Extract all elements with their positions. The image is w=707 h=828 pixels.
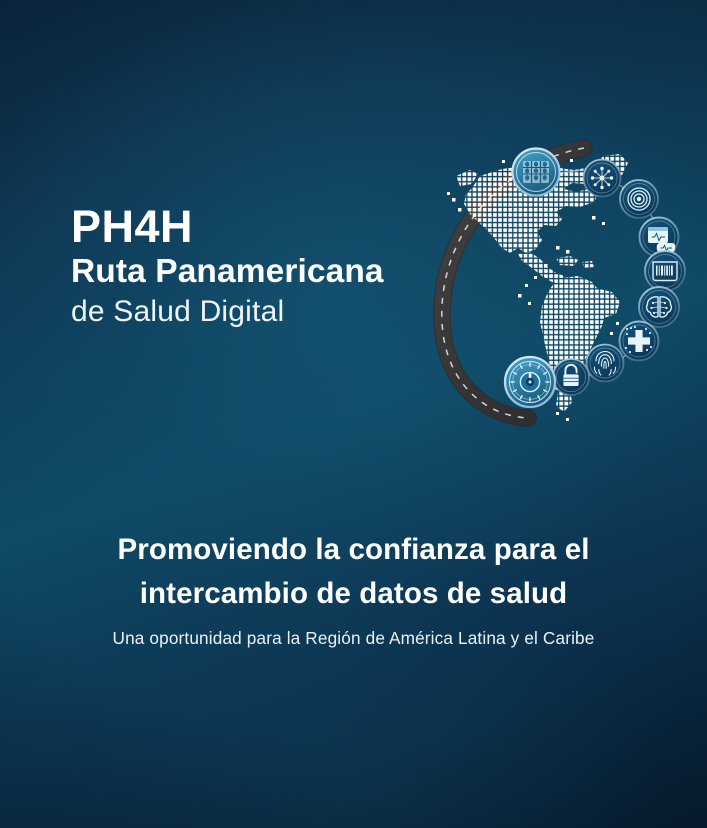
padlock-icon [553, 359, 589, 395]
barcode-icon [645, 251, 685, 291]
network-nodes-icon [584, 160, 621, 197]
fingerprint-icon [587, 345, 624, 382]
logo-line-two: Ruta Panamericana [71, 251, 384, 292]
logo-acronym: PH4H [71, 203, 384, 251]
logo-line-three: de Salud Digital [71, 292, 384, 331]
logo-block: PH4H Ruta Panamericana de Salud Digital [71, 203, 384, 331]
headline-line-two: intercambio de datos de salud [0, 572, 707, 616]
subtitle: Una oportunidad para la Región de Améric… [0, 626, 707, 650]
health-data-cross-icon [620, 322, 659, 361]
fingerprint-radar-icon [620, 180, 658, 218]
poster-canvas: PH4H Ruta Panamericana de Salud Digital … [0, 0, 707, 828]
database-grid-icon [513, 149, 560, 196]
brain-ai-icon [639, 287, 679, 327]
headline-line-one: Promoviendo la confianza para el [0, 528, 707, 572]
pan-american-digital-health-route-graphic [406, 126, 706, 426]
health-record-icon [640, 218, 679, 257]
headline: Promoviendo la confianza para el interca… [0, 528, 707, 616]
vault-dial-icon [505, 357, 555, 407]
